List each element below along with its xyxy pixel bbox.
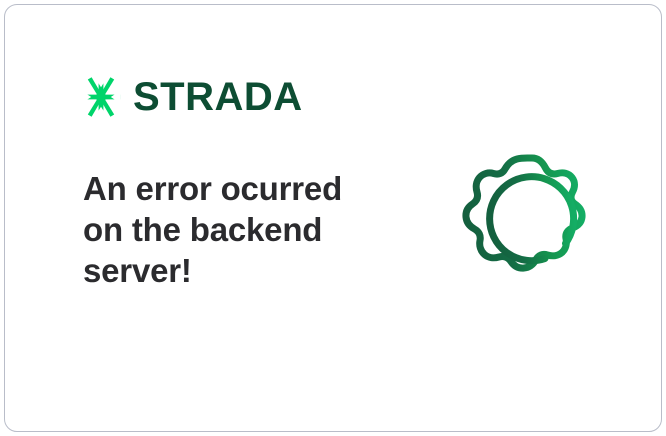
strada-mark <box>79 75 123 119</box>
error-illustration <box>449 146 615 312</box>
brand-logo: STRADA <box>79 71 303 123</box>
error-card: STRADA An error ocurred on the backend s… <box>4 4 662 432</box>
error-page-root: STRADA An error ocurred on the backend s… <box>0 0 666 436</box>
error-message-text: An error ocurred on the backend server! <box>83 168 383 291</box>
brand-wordmark: STRADA <box>133 77 303 117</box>
gear-cog-icon <box>449 146 615 312</box>
asterisk-star-icon <box>79 75 123 119</box>
